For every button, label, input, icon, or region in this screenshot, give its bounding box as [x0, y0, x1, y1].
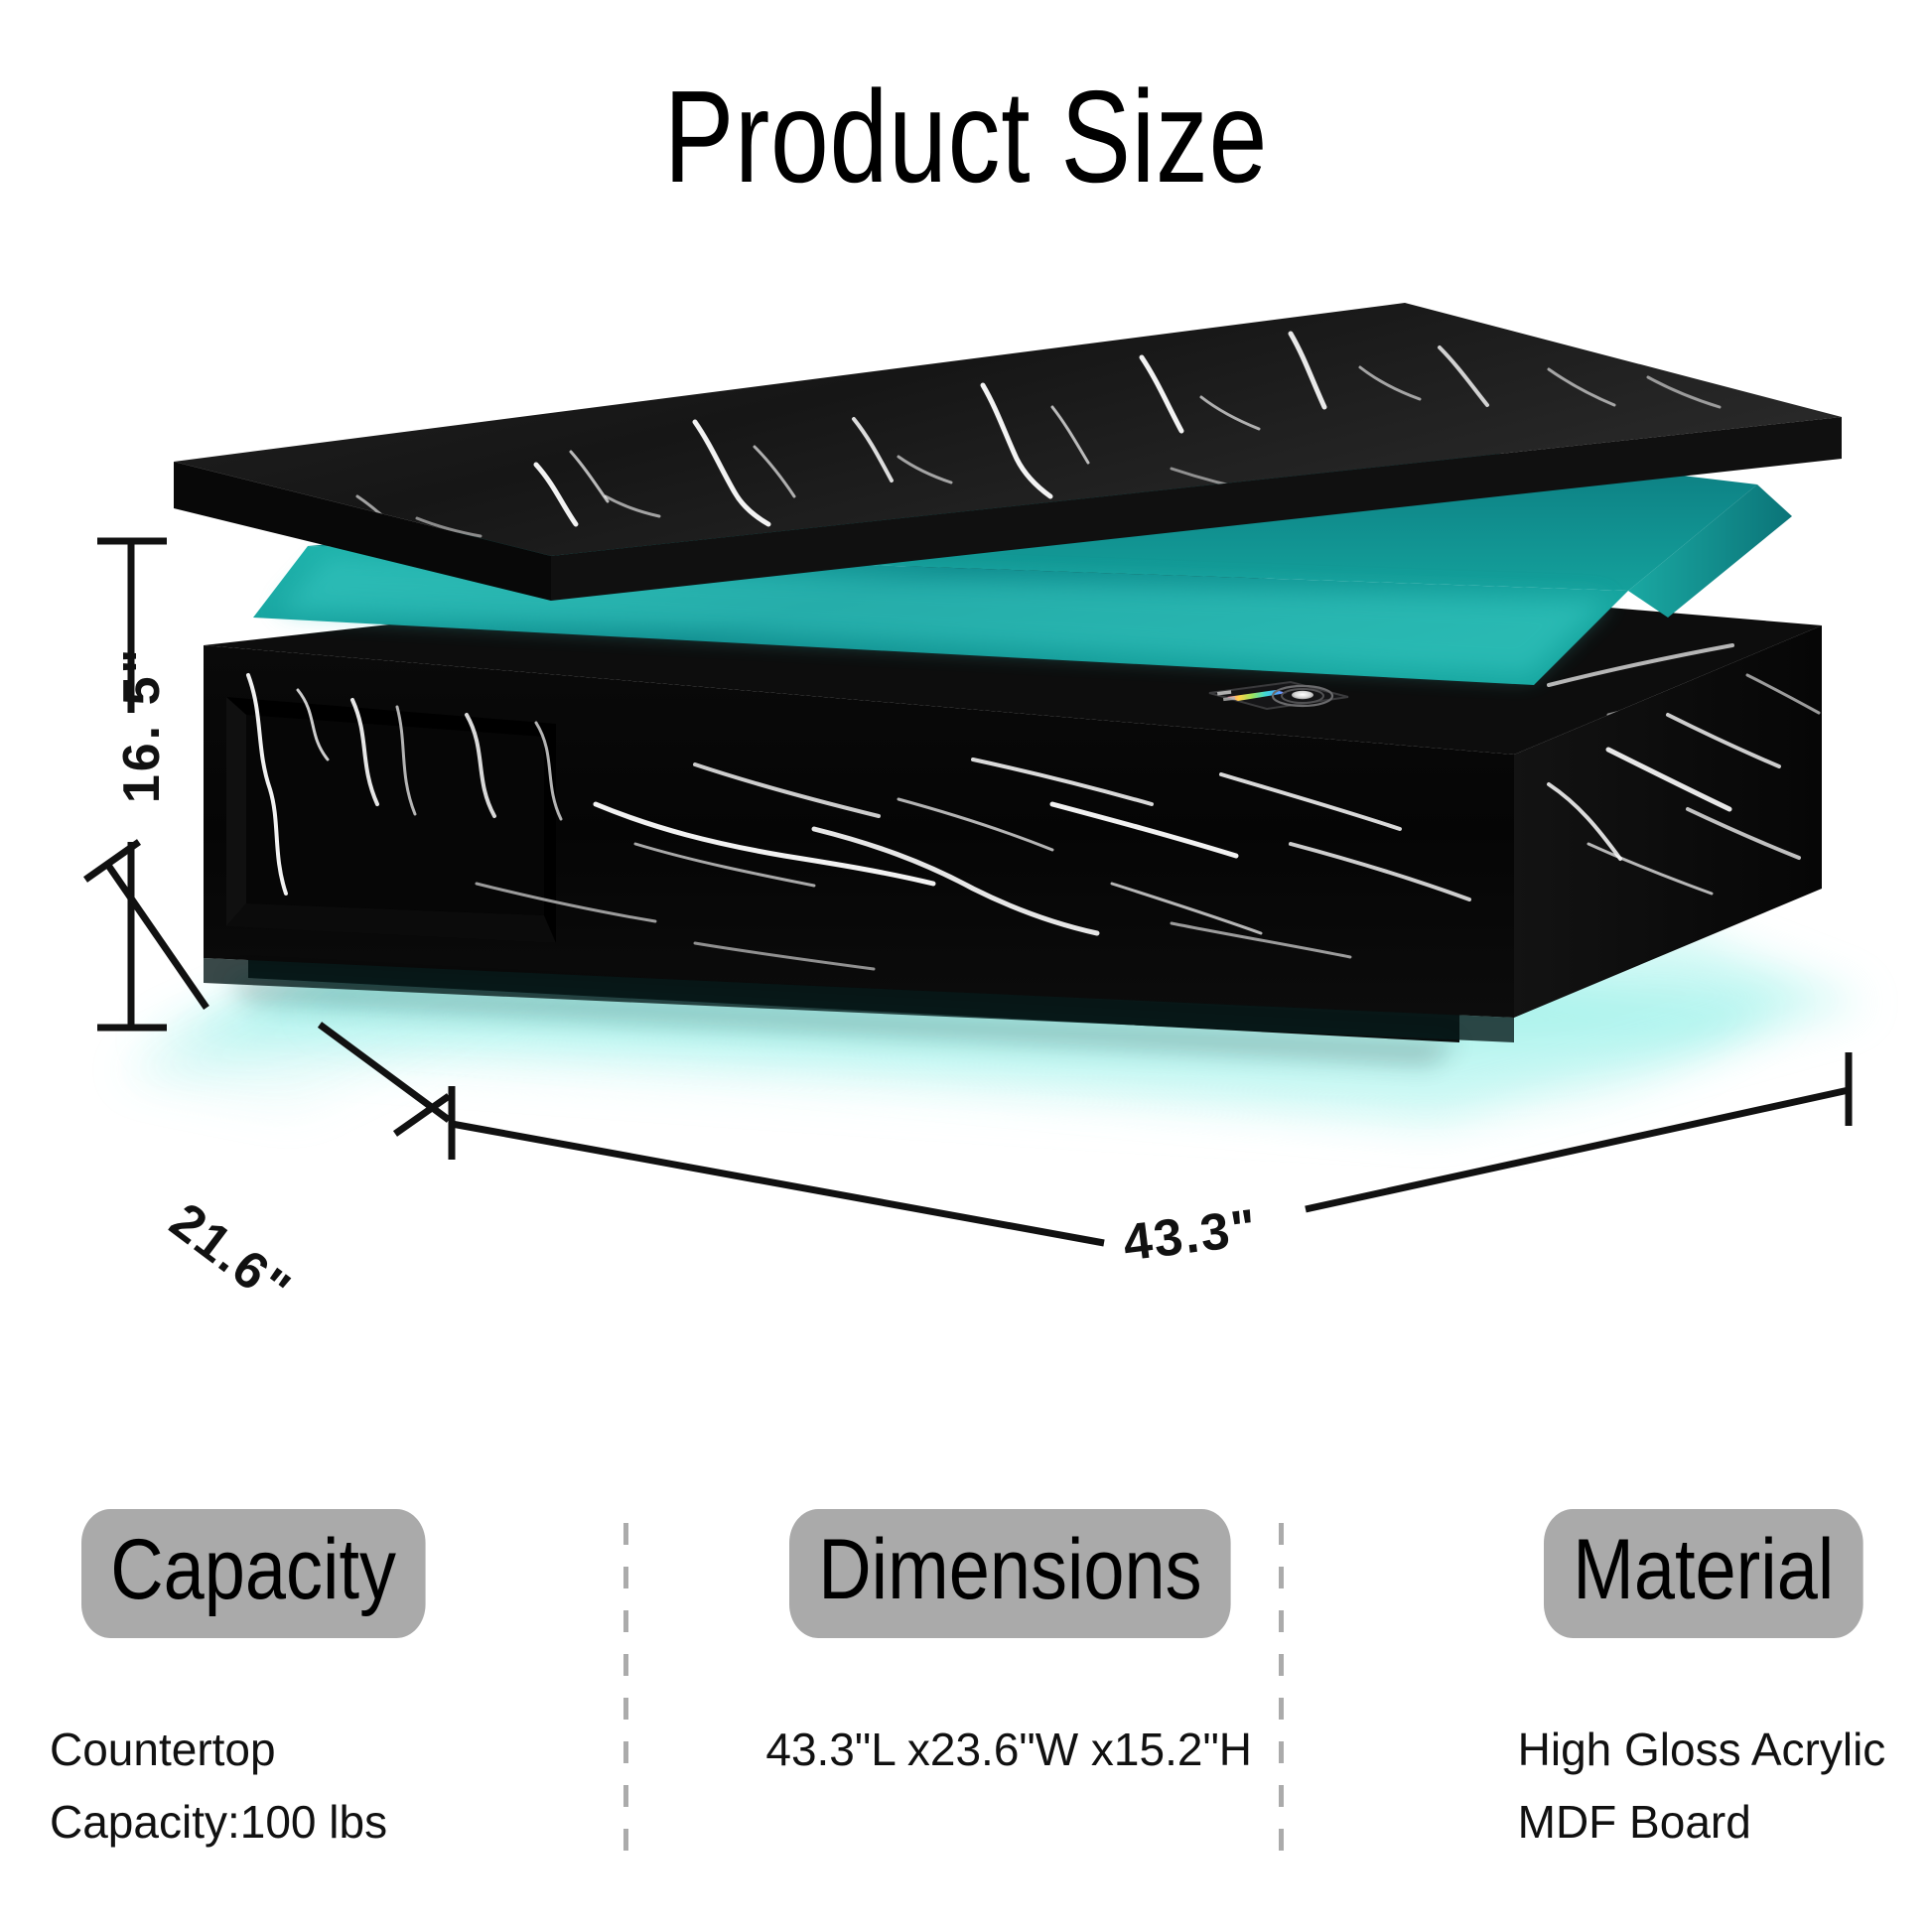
info-column-capacity: Capacity Countertop Capacity:100 lbs [0, 1509, 628, 1906]
info-line: 43.3"L x23.6"W x15.2"H [765, 1714, 1303, 1786]
badge-wrap: Capacity [20, 1509, 628, 1658]
info-lines: 43.3"L x23.6"W x15.2"H [648, 1714, 1303, 1786]
dimension-label-height: 16. 5" [112, 646, 172, 803]
info-column-material: Material High Gloss Acrylic MDF Board [1304, 1509, 1932, 1906]
badge-material: Material [1544, 1509, 1863, 1638]
product-illustration [0, 248, 1932, 1420]
info-lines: Countertop Capacity:100 lbs [20, 1714, 628, 1858]
badge-capacity: Capacity [81, 1509, 425, 1638]
badge-wrap: Dimensions [648, 1509, 1303, 1658]
info-line: Capacity:100 lbs [50, 1786, 628, 1859]
info-line: High Gloss Acrylic [1518, 1714, 1932, 1786]
page-title: Product Size [194, 62, 1739, 211]
info-line: Countertop [50, 1714, 628, 1786]
info-line: MDF Board [1518, 1786, 1932, 1859]
badge-wrap: Material [1323, 1509, 1932, 1658]
info-column-dimensions: Dimensions 43.3"L x23.6"W x15.2"H [628, 1509, 1303, 1906]
info-strip: Capacity Countertop Capacity:100 lbs Dim… [0, 1509, 1932, 1906]
badge-dimensions: Dimensions [789, 1509, 1231, 1638]
info-lines: High Gloss Acrylic MDF Board [1323, 1714, 1932, 1858]
infographic-canvas: Product Size [0, 0, 1932, 1932]
dial-center-button [1292, 691, 1313, 699]
